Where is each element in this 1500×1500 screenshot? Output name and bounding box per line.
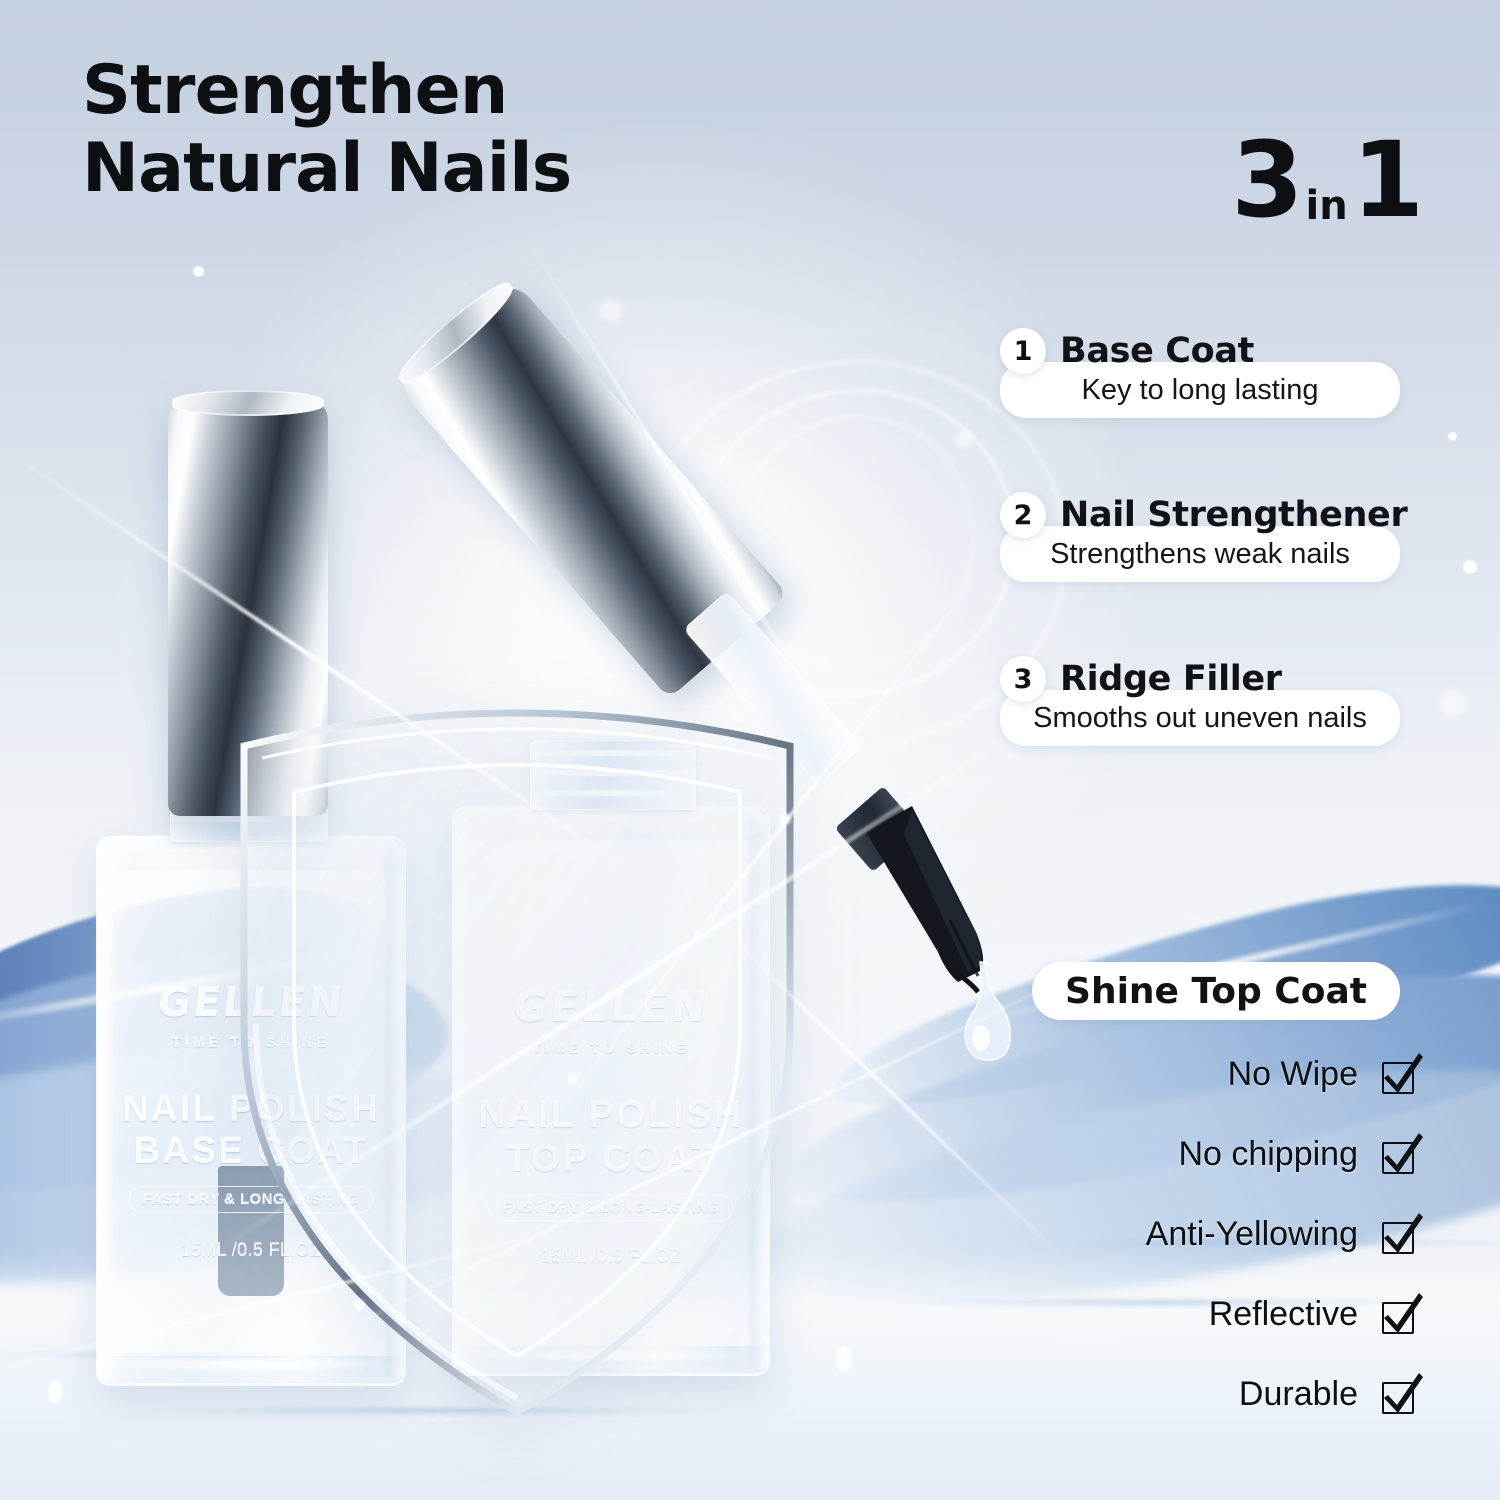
checklist-item-durable: Durable	[1239, 1375, 1414, 1414]
light-starburst	[566, 1072, 580, 1086]
light-starburst	[352, 1298, 366, 1312]
badge-number-three: 3	[1231, 128, 1301, 232]
feature-header: 2 Nail Strengthener	[1000, 492, 1400, 538]
checklist-label: Durable	[1239, 1375, 1358, 1414]
checklist-label: No Wipe	[1228, 1055, 1358, 1094]
checklist-item-anti-yellowing: Anti-Yellowing	[1146, 1215, 1414, 1254]
bokeh-dot	[600, 300, 622, 322]
feature-header: 3 Ridge Filler	[1000, 656, 1400, 702]
badge-number-one: 1	[1352, 128, 1422, 232]
badge-in-text: in	[1302, 186, 1352, 232]
three-in-one-badge: 3 in 1	[1231, 128, 1422, 232]
page-title: Strengthen Natural Nails	[82, 52, 571, 207]
polish-droplet	[950, 960, 1030, 1070]
feature-number-badge: 2	[1000, 492, 1046, 538]
checklist-label: Anti-Yellowing	[1146, 1215, 1358, 1254]
bokeh-dot	[836, 1346, 852, 1372]
bokeh-dot	[1448, 432, 1457, 441]
bokeh-dot	[955, 430, 973, 448]
checklist-item-no-chipping: No chipping	[1178, 1135, 1414, 1174]
bokeh-dot	[193, 266, 204, 277]
feature-title: Ridge Filler	[1060, 659, 1282, 699]
feature-title: Base Coat	[1060, 331, 1254, 371]
checklist-item-no-wipe: No Wipe	[1228, 1055, 1414, 1094]
feature-item-3[interactable]: 3 Ridge Filler Smooths out uneven nails	[1000, 656, 1400, 746]
checkbox-checked-icon	[1380, 1218, 1414, 1252]
glass-shield-svg	[232, 694, 802, 1424]
checklist-item-reflective: Reflective	[1209, 1295, 1414, 1334]
bokeh-dot	[48, 1380, 62, 1404]
checkbox-checked-icon	[1380, 1138, 1414, 1172]
checklist-label: No chipping	[1178, 1135, 1358, 1174]
checkbox-checked-icon	[1380, 1058, 1414, 1092]
checklist-label: Reflective	[1209, 1295, 1358, 1334]
feature-header: 1 Base Coat	[1000, 328, 1400, 374]
bokeh-dot	[1463, 560, 1477, 574]
glass-shield	[232, 694, 802, 1424]
product-marketing-image: GELLEN TIME TO SHINE NAIL POLISH BASE CO…	[0, 0, 1500, 1500]
feature-number-badge: 1	[1000, 328, 1046, 374]
feature-number-badge: 3	[1000, 656, 1046, 702]
light-starburst	[778, 812, 792, 826]
cap-top-face	[172, 390, 324, 416]
checkbox-checked-icon	[1380, 1378, 1414, 1412]
feature-item-1[interactable]: 1 Base Coat Key to long lasting	[1000, 328, 1400, 418]
shine-top-coat-heading: Shine Top Coat	[1032, 962, 1400, 1020]
checkbox-checked-icon	[1380, 1298, 1414, 1332]
feature-item-2[interactable]: 2 Nail Strengthener Strengthens weak nai…	[1000, 492, 1400, 582]
feature-title: Nail Strengthener	[1060, 495, 1407, 535]
bokeh-dot	[1440, 690, 1466, 716]
